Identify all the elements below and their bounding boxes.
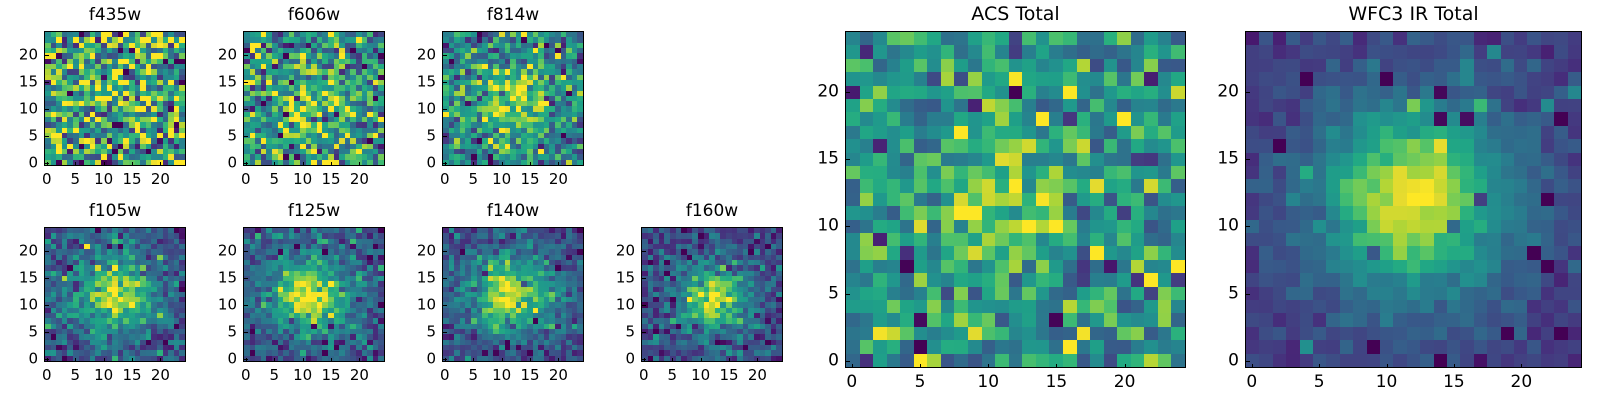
xticklabel-f105w-3: 15 [122, 368, 141, 383]
xticklabel-f105w-1: 5 [70, 368, 80, 383]
xtick-f606w-1 [274, 162, 275, 166]
ytick-f140w-1 [443, 332, 447, 333]
xticklabel-f435w-1: 5 [70, 172, 80, 187]
yticklabel-wfc3_ir_total-1: 5 [1228, 285, 1239, 302]
heatmap-wfc3_ir_total [1246, 32, 1581, 367]
ytick-acs_total-4 [846, 92, 850, 93]
ytick-f160w-4 [642, 251, 646, 252]
ytick-f125w-1 [244, 332, 248, 333]
xtick-acs_total-1 [920, 364, 921, 368]
xticklabel-f125w-4: 20 [350, 368, 369, 383]
yticklabel-f606w-0: 0 [227, 156, 237, 171]
yticklabel-f606w-2: 10 [218, 102, 237, 117]
xticklabel-f140w-1: 5 [468, 368, 478, 383]
heatmap-f606w [244, 32, 384, 165]
xtick-f435w-3 [132, 162, 133, 166]
plot-area-f814w [442, 31, 584, 166]
xtick-f160w-3 [729, 358, 730, 362]
xticklabel-f140w-0: 0 [440, 368, 450, 383]
ytick-wfc3_ir_total-4 [1246, 92, 1250, 93]
yticklabel-f140w-0: 0 [426, 352, 436, 367]
ytick-f140w-4 [443, 251, 447, 252]
yticklabel-acs_total-2: 10 [817, 218, 839, 235]
xticklabel-f140w-3: 15 [520, 368, 539, 383]
plot-area-f606w [243, 31, 385, 166]
yticklabel-f140w-1: 5 [426, 325, 436, 340]
ytick-f814w-0 [443, 163, 447, 164]
xticklabel-f125w-2: 10 [293, 368, 312, 383]
xticklabel-f105w-4: 20 [151, 368, 170, 383]
xtick-f814w-4 [558, 162, 559, 166]
ytick-f105w-0 [45, 359, 49, 360]
xtick-f814w-3 [530, 162, 531, 166]
ytick-f105w-3 [45, 278, 49, 279]
xtick-f105w-2 [104, 358, 105, 362]
heatmap-f125w [244, 228, 384, 361]
xtick-f125w-2 [303, 358, 304, 362]
yticklabel-wfc3_ir_total-0: 0 [1228, 353, 1239, 370]
plot-area-f435w [44, 31, 186, 166]
xtick-f140w-4 [558, 358, 559, 362]
panel-f140w: f140w0510152005101520 [442, 227, 584, 362]
ytick-wfc3_ir_total-2 [1246, 226, 1250, 227]
panel-acs_total: ACS Total0510152005101520 [845, 31, 1186, 368]
ytick-f606w-4 [244, 55, 248, 56]
yticklabel-f814w-0: 0 [426, 156, 436, 171]
xtick-f140w-1 [473, 358, 474, 362]
plot-area-f140w [442, 227, 584, 362]
xtick-f160w-1 [672, 358, 673, 362]
ytick-f606w-0 [244, 163, 248, 164]
xticklabel-f160w-3: 15 [719, 368, 738, 383]
xticklabel-f814w-4: 20 [549, 172, 568, 187]
xtick-f105w-4 [160, 358, 161, 362]
panel-title-f140w: f140w [442, 203, 584, 220]
yticklabel-f160w-1: 5 [625, 325, 635, 340]
xtick-f606w-4 [359, 162, 360, 166]
yticklabel-wfc3_ir_total-2: 10 [1217, 218, 1239, 235]
xtick-acs_total-4 [1125, 364, 1126, 368]
panel-title-f125w: f125w [243, 203, 385, 220]
ytick-acs_total-2 [846, 226, 850, 227]
panel-title-f606w: f606w [243, 7, 385, 24]
yticklabel-f140w-3: 15 [417, 271, 436, 286]
xticklabel-f606w-1: 5 [269, 172, 279, 187]
xticklabel-acs_total-4: 20 [1114, 374, 1136, 391]
xtick-f435w-1 [75, 162, 76, 166]
ytick-f105w-2 [45, 305, 49, 306]
ytick-f140w-2 [443, 305, 447, 306]
xticklabel-f125w-3: 15 [321, 368, 340, 383]
heatmap-f105w [45, 228, 185, 361]
xticklabel-f160w-2: 10 [691, 368, 710, 383]
panel-title-f160w: f160w [641, 203, 783, 220]
xtick-f435w-4 [160, 162, 161, 166]
plot-area-acs_total [845, 31, 1186, 368]
panel-f160w: f160w0510152005101520 [641, 227, 783, 362]
ytick-acs_total-0 [846, 361, 850, 362]
ytick-f814w-4 [443, 55, 447, 56]
yticklabel-f814w-4: 20 [417, 48, 436, 63]
ytick-f105w-4 [45, 251, 49, 252]
ytick-f160w-2 [642, 305, 646, 306]
xtick-f125w-4 [359, 358, 360, 362]
xticklabel-acs_total-2: 10 [977, 374, 999, 391]
ytick-f435w-3 [45, 82, 49, 83]
panel-title-f814w: f814w [442, 7, 584, 24]
ytick-f814w-2 [443, 109, 447, 110]
yticklabel-wfc3_ir_total-4: 20 [1217, 83, 1239, 100]
yticklabel-acs_total-1: 5 [828, 285, 839, 302]
yticklabel-f125w-1: 5 [227, 325, 237, 340]
yticklabel-f125w-2: 10 [218, 298, 237, 313]
ytick-f435w-2 [45, 109, 49, 110]
xticklabel-acs_total-1: 5 [915, 374, 926, 391]
ytick-f606w-1 [244, 136, 248, 137]
ytick-f140w-0 [443, 359, 447, 360]
xticklabel-acs_total-0: 0 [846, 374, 857, 391]
figure-canvas: f435w0510152005101520f606w05101520051015… [0, 0, 1600, 400]
panel-wfc3_ir_total: WFC3 IR Total0510152005101520 [1245, 31, 1582, 368]
heatmap-f814w [443, 32, 583, 165]
yticklabel-f814w-1: 5 [426, 129, 436, 144]
yticklabel-f105w-0: 0 [28, 352, 38, 367]
xticklabel-wfc3_ir_total-4: 20 [1511, 374, 1533, 391]
xtick-f125w-1 [274, 358, 275, 362]
xticklabel-f160w-4: 20 [748, 368, 767, 383]
yticklabel-acs_total-4: 20 [817, 83, 839, 100]
xticklabel-f435w-0: 0 [42, 172, 52, 187]
plot-area-f125w [243, 227, 385, 362]
yticklabel-f435w-4: 20 [19, 48, 38, 63]
ytick-f606w-2 [244, 109, 248, 110]
xtick-f125w-3 [331, 358, 332, 362]
xticklabel-f125w-0: 0 [241, 368, 251, 383]
yticklabel-f606w-4: 20 [218, 48, 237, 63]
xtick-acs_total-2 [988, 364, 989, 368]
ytick-wfc3_ir_total-0 [1246, 361, 1250, 362]
xtick-f140w-2 [502, 358, 503, 362]
yticklabel-f814w-3: 15 [417, 75, 436, 90]
panel-f125w: f125w0510152005101520 [243, 227, 385, 362]
yticklabel-wfc3_ir_total-3: 15 [1217, 151, 1239, 168]
ytick-f814w-3 [443, 82, 447, 83]
xticklabel-wfc3_ir_total-1: 5 [1314, 374, 1325, 391]
yticklabel-f105w-3: 15 [19, 271, 38, 286]
yticklabel-f435w-2: 10 [19, 102, 38, 117]
ytick-f814w-1 [443, 136, 447, 137]
xtick-f105w-1 [75, 358, 76, 362]
yticklabel-f160w-3: 15 [616, 271, 635, 286]
xtick-acs_total-3 [1056, 364, 1057, 368]
ytick-f125w-2 [244, 305, 248, 306]
yticklabel-f814w-2: 10 [417, 102, 436, 117]
ytick-wfc3_ir_total-1 [1246, 294, 1250, 295]
xticklabel-f125w-1: 5 [269, 368, 279, 383]
panel-title-acs_total: ACS Total [845, 5, 1186, 24]
xticklabel-wfc3_ir_total-2: 10 [1376, 374, 1398, 391]
yticklabel-f105w-2: 10 [19, 298, 38, 313]
ytick-f435w-4 [45, 55, 49, 56]
panel-f606w: f606w0510152005101520 [243, 31, 385, 166]
yticklabel-f435w-3: 15 [19, 75, 38, 90]
xticklabel-f435w-3: 15 [122, 172, 141, 187]
yticklabel-f125w-0: 0 [227, 352, 237, 367]
yticklabel-f125w-4: 20 [218, 244, 237, 259]
xticklabel-f606w-4: 20 [350, 172, 369, 187]
plot-area-f160w [641, 227, 783, 362]
xtick-f140w-3 [530, 358, 531, 362]
xticklabel-f105w-0: 0 [42, 368, 52, 383]
heatmap-acs_total [846, 32, 1185, 367]
yticklabel-f140w-4: 20 [417, 244, 436, 259]
xtick-f606w-3 [331, 162, 332, 166]
panel-f105w: f105w0510152005101520 [44, 227, 186, 362]
heatmap-f435w [45, 32, 185, 165]
ytick-f125w-3 [244, 278, 248, 279]
xtick-acs_total-0 [852, 364, 853, 368]
ytick-f125w-0 [244, 359, 248, 360]
xticklabel-acs_total-3: 15 [1046, 374, 1068, 391]
xticklabel-f606w-2: 10 [293, 172, 312, 187]
ytick-f105w-1 [45, 332, 49, 333]
ytick-f160w-3 [642, 278, 646, 279]
xtick-wfc3_ir_total-3 [1454, 364, 1455, 368]
xtick-f435w-2 [104, 162, 105, 166]
yticklabel-f435w-1: 5 [28, 129, 38, 144]
yticklabel-f140w-2: 10 [417, 298, 436, 313]
yticklabel-acs_total-3: 15 [817, 151, 839, 168]
xtick-f606w-2 [303, 162, 304, 166]
yticklabel-f606w-1: 5 [227, 129, 237, 144]
panel-f435w: f435w0510152005101520 [44, 31, 186, 166]
xtick-f160w-4 [757, 358, 758, 362]
yticklabel-f105w-4: 20 [19, 244, 38, 259]
xticklabel-f140w-4: 20 [549, 368, 568, 383]
yticklabel-acs_total-0: 0 [828, 353, 839, 370]
ytick-f160w-0 [642, 359, 646, 360]
xticklabel-f814w-2: 10 [492, 172, 511, 187]
xtick-wfc3_ir_total-0 [1252, 364, 1253, 368]
xticklabel-f105w-2: 10 [94, 368, 113, 383]
plot-area-f105w [44, 227, 186, 362]
yticklabel-f160w-0: 0 [625, 352, 635, 367]
yticklabel-f160w-2: 10 [616, 298, 635, 313]
yticklabel-f125w-3: 15 [218, 271, 237, 286]
xticklabel-f606w-3: 15 [321, 172, 340, 187]
plot-area-wfc3_ir_total [1245, 31, 1582, 368]
panel-title-wfc3_ir_total: WFC3 IR Total [1245, 5, 1582, 24]
yticklabel-f160w-4: 20 [616, 244, 635, 259]
heatmap-f160w [642, 228, 782, 361]
xtick-wfc3_ir_total-1 [1319, 364, 1320, 368]
xtick-f814w-2 [502, 162, 503, 166]
ytick-f160w-1 [642, 332, 646, 333]
xticklabel-f814w-1: 5 [468, 172, 478, 187]
ytick-acs_total-1 [846, 294, 850, 295]
ytick-f435w-0 [45, 163, 49, 164]
panel-title-f105w: f105w [44, 203, 186, 220]
ytick-f606w-3 [244, 82, 248, 83]
xticklabel-wfc3_ir_total-0: 0 [1246, 374, 1257, 391]
xticklabel-f814w-0: 0 [440, 172, 450, 187]
yticklabel-f435w-0: 0 [28, 156, 38, 171]
xticklabel-f435w-2: 10 [94, 172, 113, 187]
panel-f814w: f814w0510152005101520 [442, 31, 584, 166]
xticklabel-f814w-3: 15 [520, 172, 539, 187]
ytick-acs_total-3 [846, 159, 850, 160]
ytick-f125w-4 [244, 251, 248, 252]
panel-title-f435w: f435w [44, 7, 186, 24]
xticklabel-wfc3_ir_total-3: 15 [1443, 374, 1465, 391]
heatmap-f140w [443, 228, 583, 361]
xticklabel-f606w-0: 0 [241, 172, 251, 187]
yticklabel-f105w-1: 5 [28, 325, 38, 340]
xtick-wfc3_ir_total-2 [1387, 364, 1388, 368]
xtick-f105w-3 [132, 358, 133, 362]
xticklabel-f435w-4: 20 [151, 172, 170, 187]
xticklabel-f160w-0: 0 [639, 368, 649, 383]
xtick-f160w-2 [701, 358, 702, 362]
xtick-f814w-1 [473, 162, 474, 166]
xticklabel-f160w-1: 5 [667, 368, 677, 383]
ytick-f435w-1 [45, 136, 49, 137]
xticklabel-f140w-2: 10 [492, 368, 511, 383]
xtick-wfc3_ir_total-4 [1521, 364, 1522, 368]
yticklabel-f606w-3: 15 [218, 75, 237, 90]
ytick-wfc3_ir_total-3 [1246, 159, 1250, 160]
ytick-f140w-3 [443, 278, 447, 279]
